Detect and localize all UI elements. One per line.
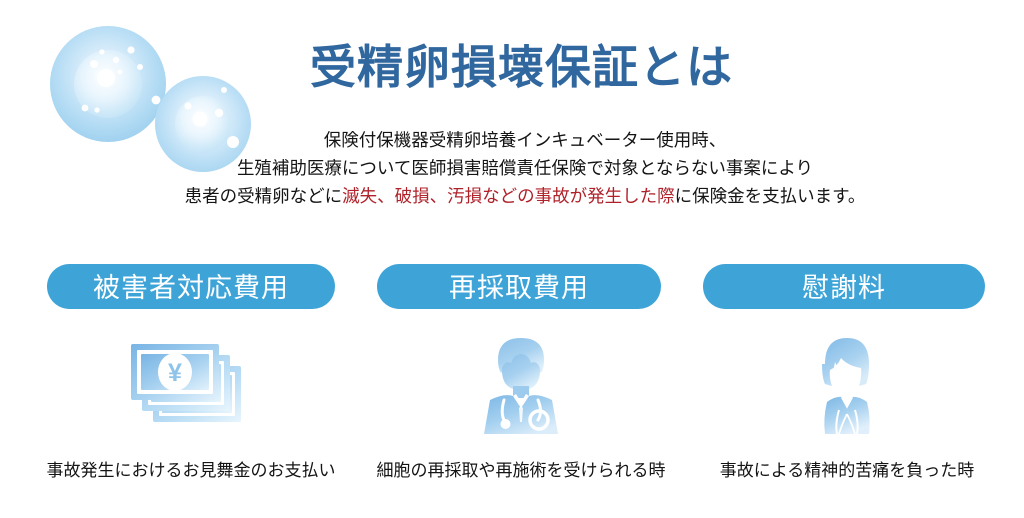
caption-recollection: 細胞の再採取や再施術を受けられる時 bbox=[359, 459, 683, 483]
description-accent-text: 滅失、破損、汚損などの事故が発生した際 bbox=[342, 186, 675, 206]
doctor-icon-svg bbox=[468, 330, 574, 438]
banknotes-yen-icon: ¥ bbox=[47, 325, 335, 443]
description-line-3-post: に保険金を支払います。 bbox=[675, 186, 866, 206]
description-line-3-pre: 患者の受精卵などに bbox=[185, 186, 343, 206]
doctor-icon bbox=[377, 325, 665, 443]
caption-consolation: 事故による精神的苦痛を負った時 bbox=[701, 459, 993, 483]
woman-icon-svg bbox=[805, 330, 889, 438]
page-title: 受精卵損壊保証とは bbox=[310, 42, 740, 93]
benefit-column-consolation: 慰謝料 bbox=[703, 264, 991, 483]
caption-victim-response: 事故発生におけるお見舞金のお支払い bbox=[7, 459, 375, 483]
pill-victim-response-cost[interactable]: 被害者対応費用 bbox=[47, 264, 335, 309]
benefit-column-recollection: 再採取費用 bbox=[377, 264, 665, 483]
yen-symbol: ¥ bbox=[168, 359, 182, 387]
benefit-column-victim-response: 被害者対応費用 bbox=[47, 264, 335, 483]
woman-icon bbox=[703, 325, 991, 443]
description-line-2: 生殖補助医療について医師損害賠償責任保険で対象とならない事案により bbox=[130, 154, 920, 182]
infographic-page: 受精卵損壊保証とは 保険付保機器受精卵培養インキュベーター使用時、 生殖補助医療… bbox=[0, 0, 1024, 518]
banknotes-yen-svg: ¥ bbox=[127, 332, 255, 436]
description-line-1: 保険付保機器受精卵培養インキュベーター使用時、 bbox=[130, 126, 920, 154]
description-paragraph: 保険付保機器受精卵培養インキュベーター使用時、 生殖補助医療について医師損害賠償… bbox=[130, 126, 920, 210]
pill-consolation-money[interactable]: 慰謝料 bbox=[703, 264, 985, 309]
pill-recollection-cost[interactable]: 再採取費用 bbox=[377, 264, 661, 309]
description-line-3: 患者の受精卵などに滅失、破損、汚損などの事故が発生した際に保険金を支払います。 bbox=[130, 182, 920, 210]
